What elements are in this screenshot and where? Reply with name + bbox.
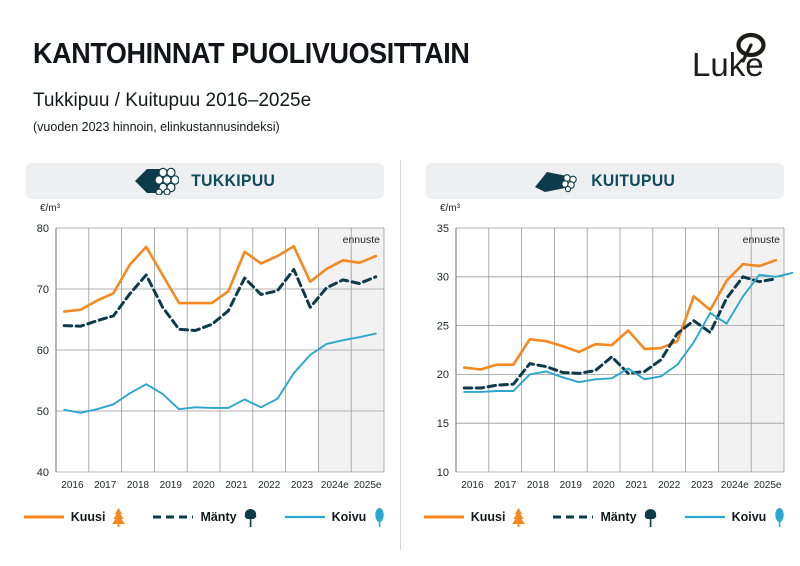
pine-tree-icon — [243, 507, 258, 527]
x-tick-label: 2017 — [94, 480, 117, 491]
legend-line-kuusi — [423, 511, 465, 523]
legend-item-kuusi[interactable]: Kuusi — [423, 507, 527, 527]
y-tick-label: 35 — [437, 223, 449, 235]
y-tick-label: 70 — [37, 284, 49, 296]
x-tick-label: 2018 — [127, 480, 150, 491]
y-tick-label: 40 — [37, 467, 49, 479]
legend-kuitupuu: Kuusi Mänty Koivu — [426, 500, 784, 534]
x-tick-label: 2017 — [494, 480, 517, 491]
x-tick-label: 2020 — [592, 480, 615, 491]
x-tick-label: 2023 — [291, 480, 314, 491]
legend-label-kuusi: Kuusi — [471, 510, 506, 524]
y-tick-label: 15 — [437, 418, 449, 430]
panel-divider — [400, 160, 401, 550]
legend-line-kuusi — [23, 511, 65, 523]
birch-tree-icon — [372, 507, 387, 527]
spruce-tree-icon — [111, 507, 126, 527]
x-tick-label: 2016 — [61, 480, 84, 491]
x-tick-label: 2019 — [560, 480, 583, 491]
x-tick-label: 2016 — [461, 480, 484, 491]
x-tick-label: 2021 — [625, 480, 648, 491]
spruce-tree-icon — [511, 507, 526, 527]
panel-tukkipuu: TUKKIPUU €/m³ 40506070802016201720182019… — [12, 155, 398, 555]
svg-text:Luke: Luke — [692, 46, 764, 83]
x-tick-label: 2024e — [721, 480, 749, 491]
x-tick-label: 2025e — [754, 480, 782, 491]
x-tick-label: 2020 — [192, 480, 215, 491]
page-title: KANTOHINNAT PUOLIVUOSITTAIN — [33, 38, 469, 71]
y-tick-label: 80 — [37, 223, 49, 235]
pine-tree-icon — [643, 507, 658, 527]
luke-logo-icon: Luke — [690, 30, 774, 86]
legend-item-koivu[interactable]: Koivu — [684, 507, 788, 527]
x-tick-label: 2024e — [321, 480, 349, 491]
x-tick-label: 2018 — [527, 480, 550, 491]
legend-line-manty — [552, 511, 594, 523]
forecast-label: ennuste — [343, 234, 381, 246]
legend-label-koivu: Koivu — [332, 510, 367, 524]
legend-line-koivu — [284, 511, 326, 523]
x-tick-label: 2022 — [258, 480, 281, 491]
legend-line-koivu — [684, 511, 726, 523]
x-tick-label: 2023 — [691, 480, 714, 491]
chart-tukkipuu: 4050607080201620172018201920202021202220… — [12, 155, 398, 555]
legend-label-manty: Mänty — [600, 510, 636, 524]
x-tick-label: 2022 — [658, 480, 681, 491]
legend-item-koivu[interactable]: Koivu — [284, 507, 388, 527]
birch-tree-icon — [772, 507, 787, 527]
legend-label-koivu: Koivu — [732, 510, 767, 524]
y-tick-label: 30 — [437, 272, 449, 284]
legend-line-manty — [152, 511, 194, 523]
x-tick-label: 2021 — [225, 480, 248, 491]
forecast-label: ennuste — [743, 234, 781, 246]
panel-kuitupuu: KUITUPUU €/m³ 10152025303520162017201820… — [412, 155, 798, 555]
infographic-page: KANTOHINNAT PUOLIVUOSITTAIN Tukkipuu / K… — [0, 0, 800, 566]
y-tick-label: 10 — [437, 467, 449, 479]
legend-item-kuusi[interactable]: Kuusi — [23, 507, 127, 527]
y-tick-label: 20 — [437, 369, 449, 381]
y-tick-label: 25 — [437, 320, 449, 332]
header: KANTOHINNAT PUOLIVUOSITTAIN Tukkipuu / K… — [0, 0, 800, 140]
page-subtitle: Tukkipuu / Kuitupuu 2016–2025e — [33, 90, 311, 112]
x-tick-label: 2025e — [354, 480, 382, 491]
y-tick-label: 60 — [37, 345, 49, 357]
legend-label-kuusi: Kuusi — [71, 510, 106, 524]
legend-tukkipuu: Kuusi Mänty Koivu — [26, 500, 384, 534]
legend-item-manty[interactable]: Mänty — [552, 507, 657, 527]
legend-label-manty: Mänty — [200, 510, 236, 524]
page-subnote: (vuoden 2023 hinnoin, elinkustannusindek… — [33, 120, 280, 134]
chart-kuitupuu: 1015202530352016201720182019202020212022… — [412, 155, 798, 555]
legend-item-manty[interactable]: Mänty — [152, 507, 257, 527]
y-tick-label: 50 — [37, 406, 49, 418]
x-tick-label: 2019 — [160, 480, 183, 491]
